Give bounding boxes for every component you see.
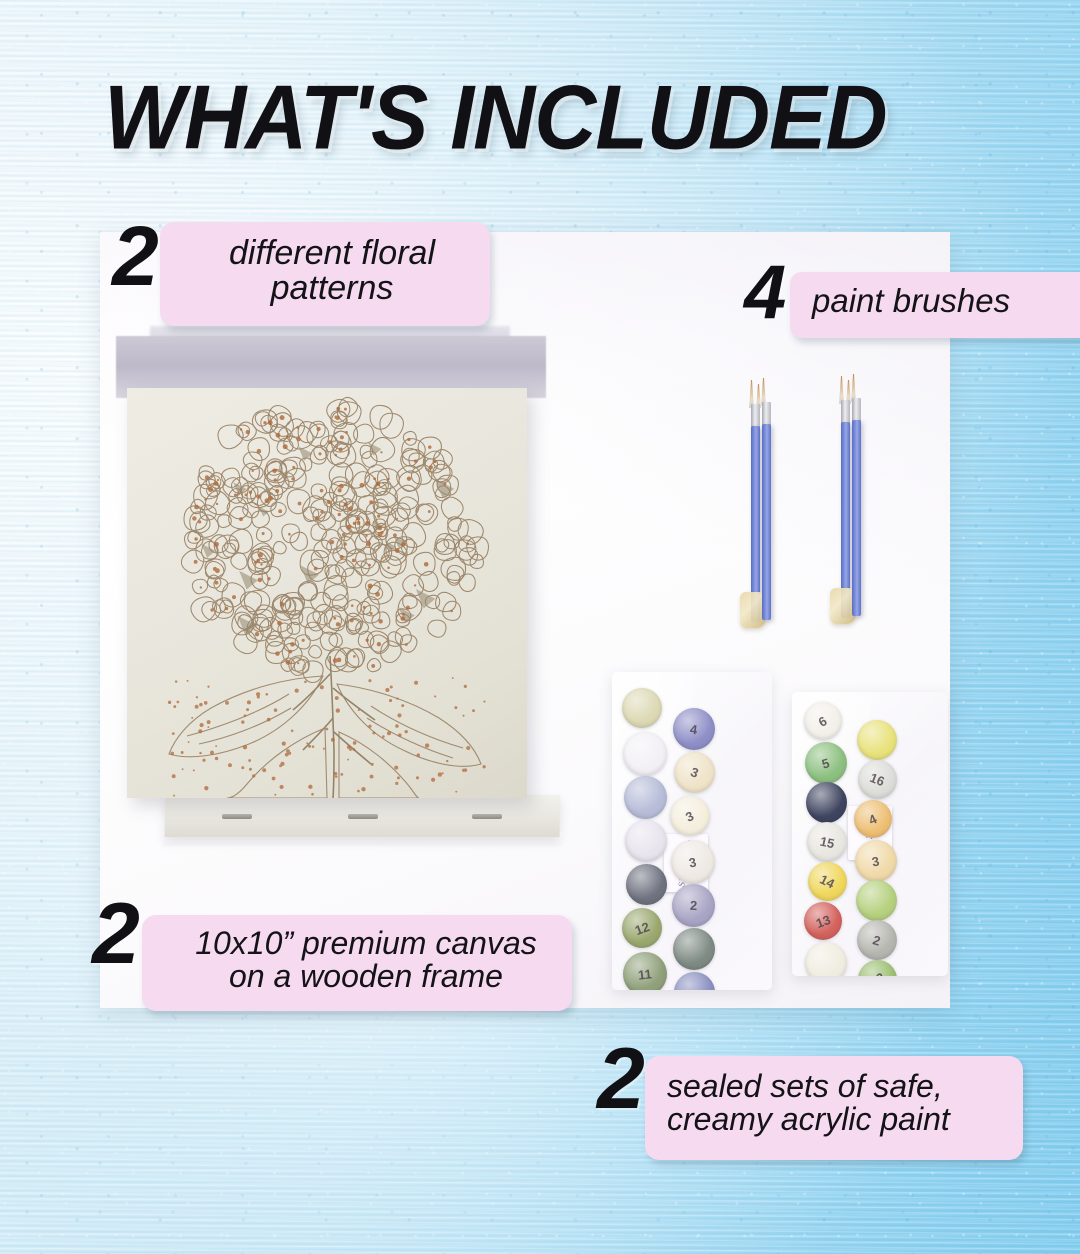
paint-pot: 4	[854, 800, 892, 838]
paint-brush	[843, 368, 869, 618]
paint-pot: 11	[623, 952, 667, 990]
canvas-staple	[348, 814, 378, 819]
paint-pot-number: 12	[868, 969, 888, 976]
paint-pot-number: 4	[867, 811, 880, 828]
paint-pot: 4	[673, 708, 715, 750]
callout-text: sealed sets of safe, creamy acrylic pain…	[667, 1070, 1019, 1135]
paint-pot	[805, 942, 847, 976]
paint-pot-number: 5	[820, 755, 831, 771]
paint-pot: 2	[672, 884, 715, 927]
paint-pot-number: 3	[871, 853, 881, 869]
paint-pot	[806, 782, 847, 823]
printed-canvas	[127, 388, 527, 798]
paint-pot: 12	[858, 960, 897, 976]
paint-pot	[674, 972, 715, 990]
paint-pot-number: 3	[688, 764, 700, 781]
paint-pot: 15	[807, 822, 847, 862]
sealed-paint-pot-bag-left: Sku 257043 433321211	[612, 672, 772, 990]
paint-pot-number: 2	[689, 898, 697, 913]
paint-pot: 3	[670, 796, 710, 836]
paint-pot-number: 6	[816, 713, 830, 730]
paint-pot: 2	[857, 920, 897, 960]
callout-quantity: 2	[597, 1036, 642, 1122]
brush-handle	[852, 420, 861, 616]
paint-pot: 3	[855, 840, 897, 882]
paint-pot-number: 16	[868, 770, 887, 789]
paint-pot	[625, 820, 667, 862]
canvas-staple	[472, 814, 502, 819]
paint-pot: 6	[804, 702, 842, 740]
page-title: WHAT'S INCLUDED	[104, 66, 887, 171]
paint-pot-number: 13	[814, 911, 833, 930]
paint-pot: 3	[671, 840, 715, 884]
canvas-staple	[222, 814, 252, 819]
infographic-stage: Sku 257043 433321211 Sku 257043 65164153…	[0, 0, 1080, 1254]
callout-text: 10x10” premium canvas on a wooden frame	[160, 927, 572, 992]
paint-brush	[753, 372, 779, 622]
paint-pot-number: 11	[637, 966, 652, 982]
paint-pot	[626, 864, 667, 905]
paint-pot-number: 3	[684, 808, 697, 825]
paint-pot: 3	[674, 752, 715, 793]
paint-pot-number: 4	[689, 721, 698, 737]
paint-pot	[857, 720, 897, 760]
callout-quantity: 2	[92, 891, 137, 977]
paint-pot-number: 3	[688, 854, 698, 870]
paint-pot	[673, 928, 715, 970]
paint-pot: 12	[622, 908, 662, 948]
sealed-paint-pot-bag-right: Sku 257043 6516415314132121	[792, 692, 948, 976]
paint-pot-number: 15	[818, 833, 835, 851]
callout-quantity: 4	[744, 255, 783, 331]
callout-text: different floral patterns	[182, 236, 482, 305]
paint-pot-number: 12	[633, 918, 652, 937]
paint-pot-number: 2	[871, 932, 882, 948]
paint-pot: 14	[808, 862, 847, 901]
paint-pot: 16	[858, 760, 897, 799]
paint-pot	[856, 880, 897, 921]
brush-handle	[762, 424, 771, 620]
paint-pot	[623, 732, 667, 776]
callout-text: paint brushes	[812, 284, 1080, 318]
paint-pot: 5	[805, 742, 847, 784]
paint-pot: 13	[804, 902, 842, 940]
paint-pot	[624, 776, 667, 819]
hydrangea-outline-artwork	[127, 388, 527, 798]
paint-pot	[622, 688, 662, 728]
paint-pot-number: 14	[818, 872, 838, 892]
callout-quantity: 2	[112, 214, 156, 298]
